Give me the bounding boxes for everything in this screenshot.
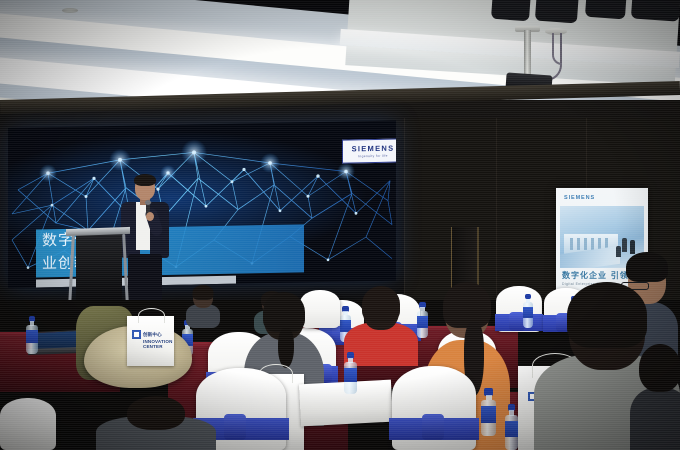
bag-logo-text: 创新中心 (143, 332, 162, 337)
dark-ceiling-fixture (535, 0, 579, 23)
attendee-woman-red-top (344, 288, 418, 362)
conference-room-photo: SIEMENS Ingenuity for life 数字化@西门子工 业创新理… (0, 0, 680, 450)
water-bottle[interactable] (505, 404, 518, 450)
siemens-wordmark: SIEMENS (352, 144, 395, 154)
banner-siemens-wordmark: SIEMENS (564, 195, 595, 201)
recessed-downlight (62, 8, 78, 13)
bag-logo-mark (132, 330, 141, 339)
dark-ceiling-fixture (585, 0, 627, 19)
water-bottle[interactable] (523, 294, 533, 328)
banquet-chair (392, 366, 476, 450)
siemens-logo-badge: SIEMENS Ingenuity for life (342, 138, 396, 163)
hair (134, 174, 156, 186)
ponytail (278, 328, 294, 368)
service-door[interactable] (452, 227, 478, 289)
dark-ceiling-fixture (491, 0, 531, 21)
dark-ceiling-fixture (631, 0, 680, 22)
attendee-back-row (96, 396, 216, 450)
attendee-man-dark-jacket (186, 286, 220, 326)
attendee-man-dark-jacket (630, 344, 680, 450)
water-bottle[interactable] (26, 316, 38, 354)
microphone-head-icon (145, 200, 151, 205)
bag-logo: 创新中心 (132, 330, 162, 339)
gift-bag[interactable]: 创新中心 INNOVATION CENTER (127, 316, 174, 366)
projector-mount-pole (524, 30, 531, 78)
lectern-podium (76, 234, 122, 301)
hand (146, 212, 154, 221)
siemens-tagline: Ingenuity for life (358, 154, 388, 159)
trousers (128, 254, 162, 300)
bag-handle (138, 308, 165, 323)
water-bottle[interactable] (344, 352, 357, 394)
door-frame-edge (477, 227, 479, 289)
projector-cable (552, 33, 562, 65)
led-display-wall: SIEMENS Ingenuity for life 数字化@西门子工 业创新理… (8, 121, 396, 288)
water-bottle[interactable] (481, 388, 496, 436)
bag-logo-subtext: INNOVATION CENTER (143, 339, 174, 349)
banquet-chair (0, 398, 56, 450)
